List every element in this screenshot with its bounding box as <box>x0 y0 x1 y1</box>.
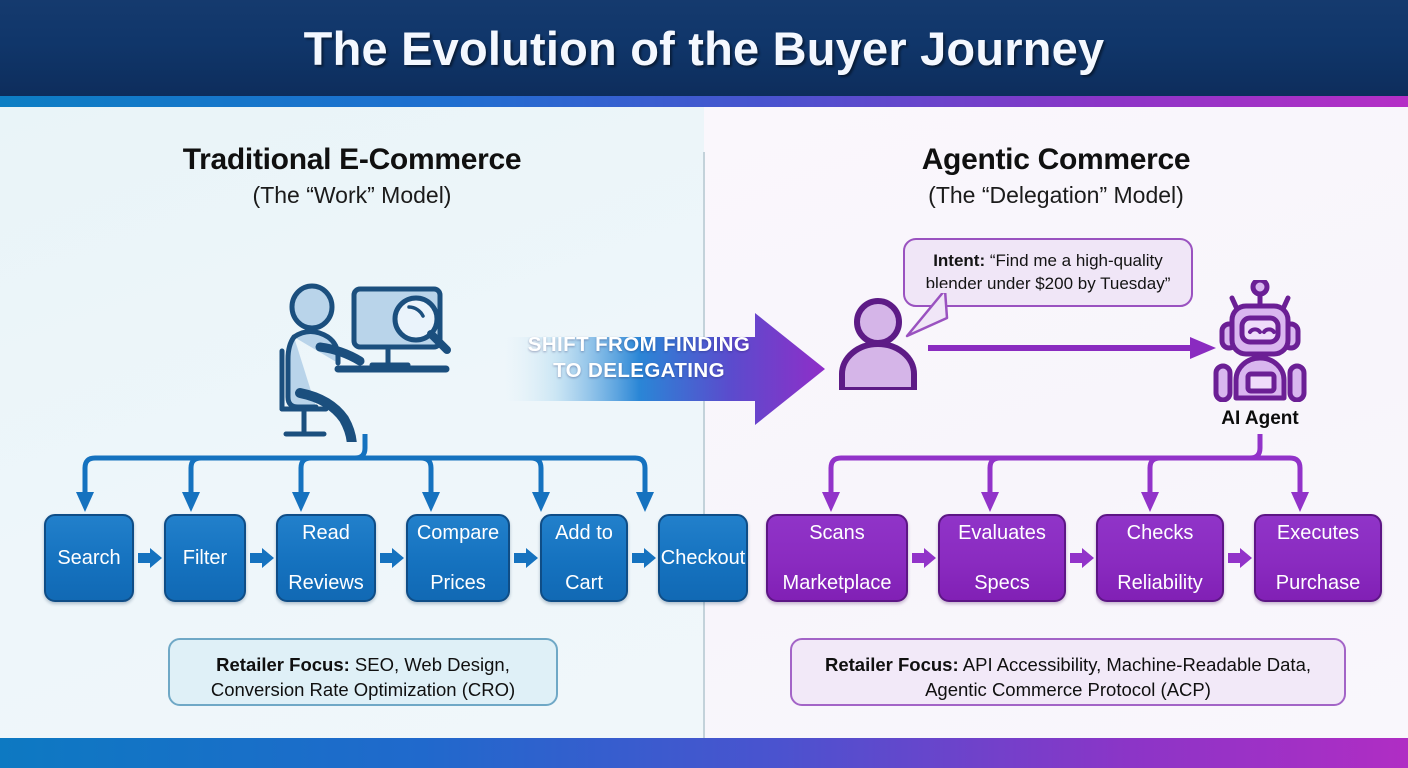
step-box[interactable]: EvaluatesSpecs <box>938 514 1066 602</box>
flow-chevron-icon <box>134 547 164 569</box>
step-label-line: Checks <box>1127 521 1194 546</box>
agentic-heading-group: Agentic Commerce (The “Delegation” Model… <box>756 143 1356 209</box>
page-title: The Evolution of the Buyer Journey <box>0 21 1408 76</box>
flow-chevron-icon <box>1066 547 1096 569</box>
step-box[interactable]: ChecksReliability <box>1096 514 1224 602</box>
step-label-line: Reliability <box>1117 571 1203 596</box>
traditional-focus-label: Retailer Focus: <box>216 654 350 675</box>
shift-label-line2: TO DELEGATING <box>553 359 725 382</box>
step-box[interactable]: Add toCart <box>540 514 628 602</box>
flow-chevron-icon <box>1224 547 1254 569</box>
agentic-flow-connectors <box>760 434 1380 522</box>
step-label-line: Cart <box>565 571 603 596</box>
agentic-subheading: (The “Delegation” Model) <box>756 182 1356 209</box>
agentic-focus-label: Retailer Focus: <box>825 654 959 675</box>
flow-chevron-icon <box>376 547 406 569</box>
step-box[interactable]: ReadReviews <box>276 514 376 602</box>
step-label-line: Marketplace <box>783 571 892 596</box>
shift-label-line1: SHIFT FROM FINDING <box>528 333 750 356</box>
step-label-line: Compare <box>417 521 499 546</box>
delegation-arrow-icon <box>928 336 1216 360</box>
flow-chevron-icon <box>628 547 658 569</box>
step-box[interactable]: Filter <box>164 514 246 602</box>
agentic-heading: Agentic Commerce <box>756 143 1356 177</box>
step-label-line: Purchase <box>1276 571 1361 596</box>
shift-arrow-label: SHIFT FROM FINDING TO DELEGATING <box>505 332 773 384</box>
step-label-line: Read <box>302 521 350 546</box>
flow-chevron-icon <box>246 547 276 569</box>
traditional-subheading: (The “Work” Model) <box>52 182 652 209</box>
step-label-line: Specs <box>974 571 1030 596</box>
traditional-flow-connectors <box>40 434 690 522</box>
step-label-line: Scans <box>809 521 865 546</box>
intent-label: Intent: <box>933 251 985 270</box>
step-box[interactable]: Checkout <box>658 514 748 602</box>
step-label-line: Executes <box>1277 521 1359 546</box>
bottom-accent-rule <box>0 738 1408 768</box>
traditional-heading-group: Traditional E-Commerce (The “Work” Model… <box>52 143 652 209</box>
header-bar: The Evolution of the Buyer Journey <box>0 0 1408 96</box>
step-box[interactable]: Search <box>44 514 134 602</box>
flow-chevron-icon <box>510 547 540 569</box>
traditional-heading: Traditional E-Commerce <box>52 143 652 177</box>
step-box[interactable]: ComparePrices <box>406 514 510 602</box>
person-at-desk-searching-icon <box>276 277 456 442</box>
traditional-retailer-focus-note: Retailer Focus: SEO, Web Design, Convers… <box>168 638 558 706</box>
agentic-retailer-focus-note: Retailer Focus: API Accessibility, Machi… <box>790 638 1346 706</box>
user-avatar-icon <box>836 298 920 390</box>
step-label-line: Add to <box>555 521 613 546</box>
step-label-line: Prices <box>430 571 486 596</box>
infographic-root: The Evolution of the Buyer Journey Tradi… <box>0 0 1408 768</box>
step-label-line: Reviews <box>288 571 364 596</box>
flow-chevron-icon <box>908 547 938 569</box>
top-accent-rule <box>0 96 1408 107</box>
agent-label: AI Agent <box>1180 408 1340 430</box>
step-box[interactable]: ScansMarketplace <box>766 514 908 602</box>
step-label-line: Search <box>57 546 120 571</box>
panel-divider <box>703 152 705 738</box>
step-label-line: Evaluates <box>958 521 1046 546</box>
step-box[interactable]: ExecutesPurchase <box>1254 514 1382 602</box>
robot-icon <box>1210 280 1310 402</box>
agentic-focus-text: API Accessibility, Machine-Readable Data… <box>925 654 1311 700</box>
agentic-step-list: ScansMarketplaceEvaluatesSpecsChecksReli… <box>766 514 1382 602</box>
step-label-line: Checkout <box>661 546 746 571</box>
step-label-line: Filter <box>183 546 227 571</box>
traditional-step-list: SearchFilterReadReviewsComparePricesAdd … <box>44 514 748 602</box>
